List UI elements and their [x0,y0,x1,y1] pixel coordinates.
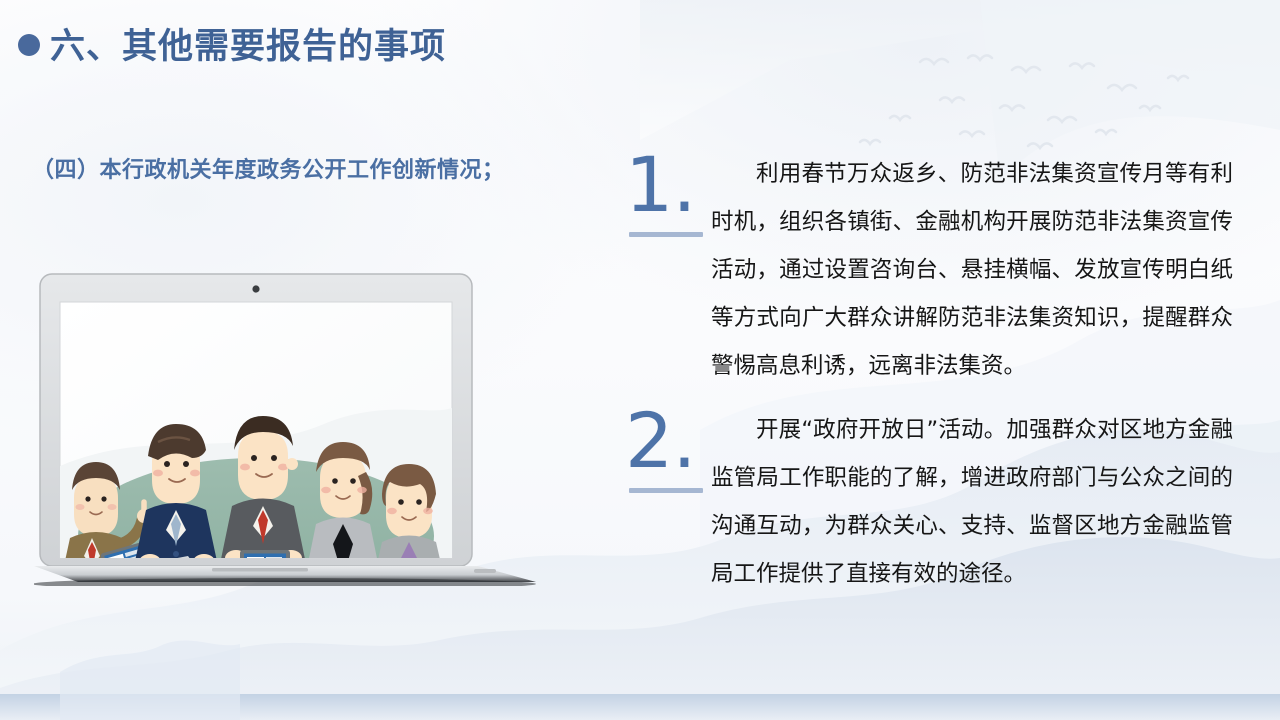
item-paragraph: 利用春节万众返乡、防范非法集资宣传月等有利时机，组织各镇街、金融机构开展防范非法… [711,150,1255,390]
section-subtitle: （四）本行政机关年度政务公开工作创新情况； [32,152,505,184]
list-item: 2. 开展“政府开放日”活动。加强群众对区地方金融监管局工作职能的了解，增进政府… [615,406,1255,598]
item-underline [629,488,703,493]
page-title-row: 六、其他需要报告的事项 [18,18,446,69]
content-list: 1. 利用春节万众返乡、防范非法集资宣传月等有利时机，组织各镇街、金融机构开展防… [615,150,1255,598]
laptop-meeting-illustration [34,266,586,586]
slide-canvas: 六、其他需要报告的事项 （四）本行政机关年度政务公开工作创新情况； [0,0,1280,720]
item-marker: 2. [615,406,711,493]
item-underline [629,232,703,237]
list-item: 1. 利用春节万众返乡、防范非法集资宣传月等有利时机，组织各镇街、金融机构开展防… [615,150,1255,390]
item-number: 1. [615,150,711,220]
page-title: 六、其他需要报告的事项 [50,18,446,69]
item-number: 2. [615,406,711,476]
item-marker: 1. [615,150,711,237]
bullet-dot-icon [18,34,40,56]
item-paragraph: 开展“政府开放日”活动。加强群众对区地方金融监管局工作职能的了解，增进政府部门与… [711,406,1255,598]
